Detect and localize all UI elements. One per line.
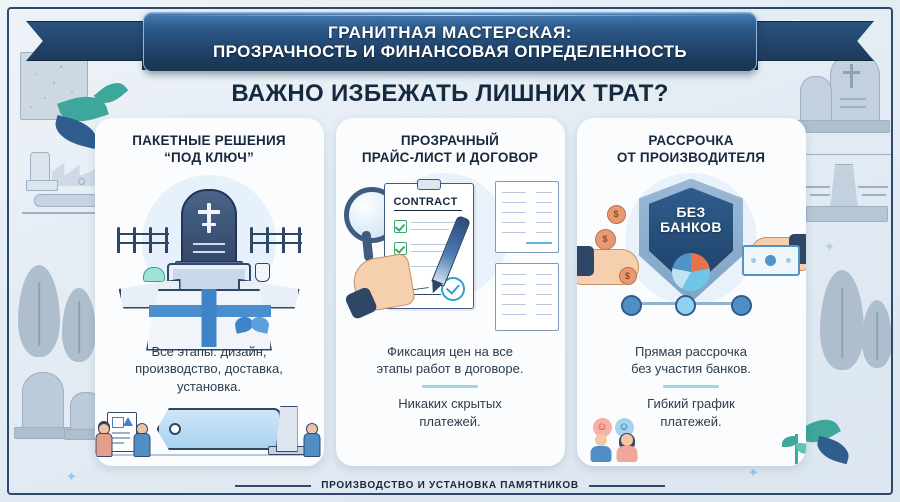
worker-figure	[305, 423, 320, 455]
shield-label-line2: БАНКОВ	[577, 220, 806, 235]
card-body-line2: этапы работ в договоре.	[336, 360, 565, 378]
gift-ribbon-vertical	[202, 289, 217, 347]
pie-chart-icon	[672, 253, 710, 291]
header-banner: ГРАНИТНАЯ МАСТЕРСКАЯ: ПРОЗРАЧНОСТЬ И ФИН…	[0, 8, 900, 70]
card-body-line1: Фиксация цен на все	[336, 343, 565, 361]
card-title-line2: ОТ ПРОИЗВОДИТЕЛЯ	[617, 149, 765, 166]
footer-rule-right	[589, 485, 665, 487]
price-list-document	[495, 181, 559, 253]
card-body-text: Фиксация цен на все этапы работ в догово…	[336, 341, 565, 466]
footer: ПРОИЗВОДСТВО И УСТАНОВКА ПАМЯТНИКОВ	[0, 480, 900, 491]
fence-icon	[250, 227, 302, 253]
checkbox-checked-icon	[394, 220, 407, 233]
card-body-line3: установка.	[95, 378, 324, 396]
plant-icon	[795, 434, 798, 464]
card-body-line1: Прямая рассрочка	[577, 343, 806, 361]
timeline-dot	[621, 295, 642, 316]
card-packaged-solutions[interactable]: ПАКЕТНЫЕ РЕШЕНИЯ “ПОД КЛЮЧ”	[95, 118, 324, 466]
clipboard-clip	[417, 179, 441, 190]
banner-title-line2: ПРОЗРАЧНОСТЬ И ФИНАНСОВАЯ ОПРЕДЕЛЕННОСТЬ	[213, 42, 687, 61]
worker-figure	[135, 423, 150, 455]
card-illustration-contract: CONTRACT	[336, 171, 565, 341]
payment-timeline	[621, 302, 749, 305]
card-title: ПАКЕТНЫЕ РЕШЕНИЯ “ПОД КЛЮЧ”	[132, 132, 286, 167]
card-installment-plan[interactable]: РАССРОЧКА ОТ ПРОИЗВОДИТЕЛЯ БЕЗ БАНКОВ $ …	[577, 118, 806, 466]
checkbox-checked-icon	[394, 242, 407, 255]
hand-icon	[349, 252, 415, 313]
shrub-icon	[143, 267, 165, 282]
card-title-line1: ПАКЕТНЫЕ РЕШЕНИЯ	[132, 132, 286, 149]
shield-label: БЕЗ БАНКОВ	[577, 205, 806, 236]
banner-plate: ГРАНИТНАЯ МАСТЕРСКАЯ: ПРОЗРАЧНОСТЬ И ФИН…	[143, 12, 757, 72]
cards-row: ПАКЕТНЫЕ РЕШЕНИЯ “ПОД КЛЮЧ”	[0, 118, 900, 468]
footer-rule-left	[235, 485, 311, 487]
infographic-canvas: ✦ ✦ ✦ ✦ ГРАНИТНАЯ МАСТЕРСКАЯ: ПРОЗРАЧНОС…	[0, 0, 900, 502]
card-title: РАССРОЧКА ОТ ПРОИЗВОДИТЕЛЯ	[617, 132, 765, 167]
ribbon-tail-left	[26, 21, 146, 61]
vase-icon	[255, 263, 270, 282]
card-illustration-shield-money: БЕЗ БАНКОВ $ $ $	[577, 171, 806, 341]
worker-figure	[97, 423, 112, 455]
card-body-line4: Никаких скрытых	[336, 395, 565, 413]
timeline-dot	[731, 295, 752, 316]
card-body-line2: без участия банков.	[577, 360, 806, 378]
card-title-line1: ПРОЗРАЧНЫЙ	[362, 132, 538, 149]
person-icon	[591, 434, 612, 462]
card-title-line2: ПРАЙС-ЛИСТ И ДОГОВОР	[362, 149, 538, 166]
contract-heading: CONTRACT	[394, 196, 458, 208]
cross-icon	[207, 203, 211, 233]
footer-text: ПРОИЗВОДСТВО И УСТАНОВКА ПАМЯТНИКОВ	[321, 480, 579, 491]
card-transparent-pricing[interactable]: ПРОЗРАЧНЫЙ ПРАЙС-ЛИСТ И ДОГОВОР	[336, 118, 565, 466]
card-body-text: Прямая рассрочка без участия банков. Гиб…	[577, 341, 806, 466]
banner-title-line1: ГРАНИТНАЯ МАСТЕРСКАЯ:	[328, 23, 572, 42]
card-illustration-gift-monument	[95, 171, 324, 341]
text-divider	[422, 385, 478, 388]
banknote-icon	[742, 245, 800, 276]
shield-label-line1: БЕЗ	[577, 205, 806, 220]
customers-group-icon: ☺ ☺	[591, 418, 655, 462]
card-footer-scene	[95, 404, 324, 466]
monument-icon	[181, 189, 237, 267]
card-title-line1: РАССРОЧКА	[617, 132, 765, 149]
text-divider	[663, 385, 719, 388]
timeline-dot	[675, 295, 696, 316]
card-body-line1: Все этапы: дизайн,	[95, 343, 324, 361]
card-body-line4: Гибкий график	[577, 395, 806, 413]
card-body-line5: платежей.	[336, 413, 565, 431]
price-tag-hole	[169, 423, 181, 435]
page-subtitle: ВАЖНО ИЗБЕЖАТЬ ЛИШНИХ ТРАТ?	[0, 80, 900, 108]
price-list-document	[495, 263, 559, 331]
card-title: ПРОЗРАЧНЫЙ ПРАЙС-ЛИСТ И ДОГОВОР	[362, 132, 538, 167]
fence-icon	[117, 227, 169, 253]
coin-icon: $	[619, 267, 637, 285]
ribbon-tail-right	[754, 21, 874, 61]
card-body-line2: производство, доставка,	[95, 360, 324, 378]
card-title-line2: “ПОД КЛЮЧ”	[132, 149, 286, 166]
person-icon	[617, 434, 638, 462]
